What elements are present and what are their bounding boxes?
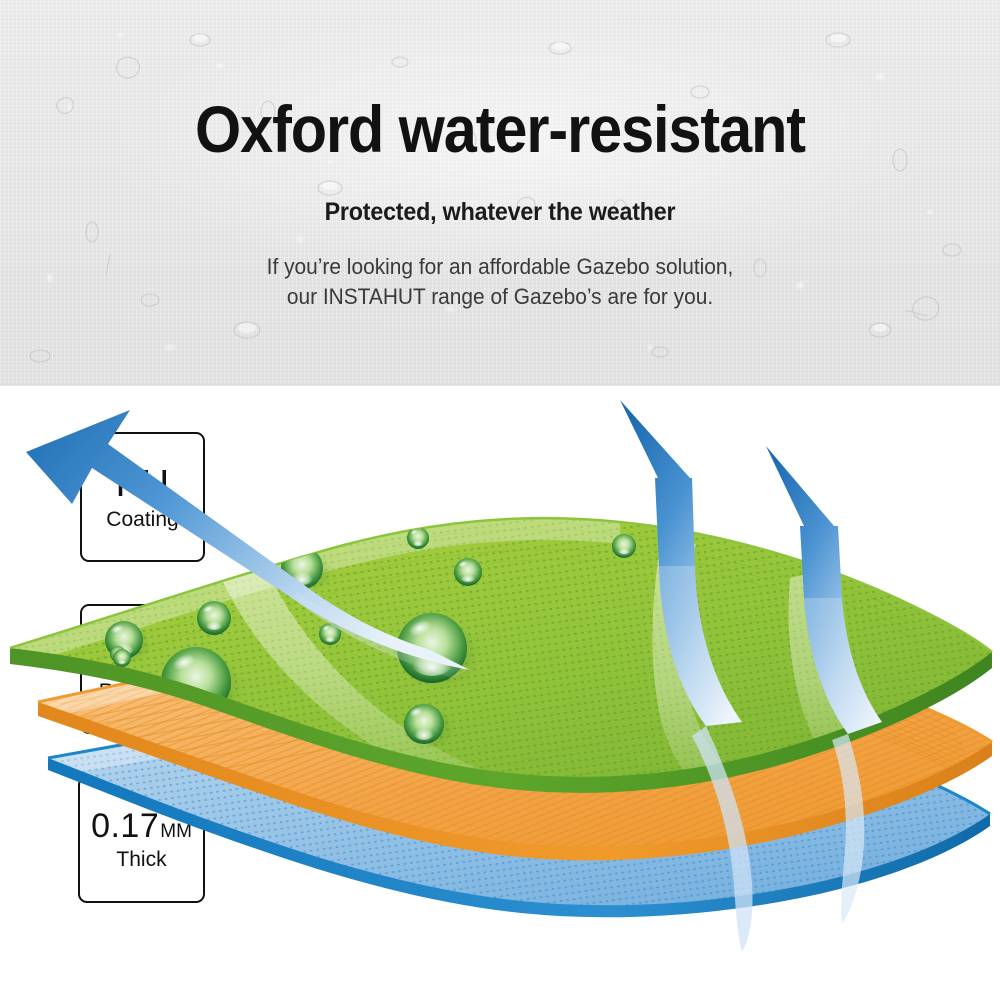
droplet-small-e	[454, 558, 482, 586]
page-subtitle: Protected, whatever the weather	[35, 198, 965, 227]
hero-banner: Oxford water-resistant Protected, whatev…	[0, 0, 1000, 386]
droplet-small-b	[197, 601, 231, 635]
droplet-outlines	[0, 0, 1000, 386]
body-line-1: If you’re looking for an affordable Gaze…	[25, 252, 975, 282]
droplet-tiny-b	[113, 649, 131, 667]
layered-fabric-illustration	[0, 386, 1000, 1000]
product-feature-banner: Oxford water-resistant Protected, whatev…	[0, 0, 1000, 1000]
droplet-small-f	[612, 534, 636, 558]
droplet-small-a	[407, 527, 429, 549]
page-body-copy: If you’re looking for an affordable Gaze…	[25, 252, 975, 313]
page-title: Oxford water-resistant	[50, 96, 950, 162]
body-line-2: our INSTAHUT range of Gazebo’s are for y…	[25, 282, 975, 312]
